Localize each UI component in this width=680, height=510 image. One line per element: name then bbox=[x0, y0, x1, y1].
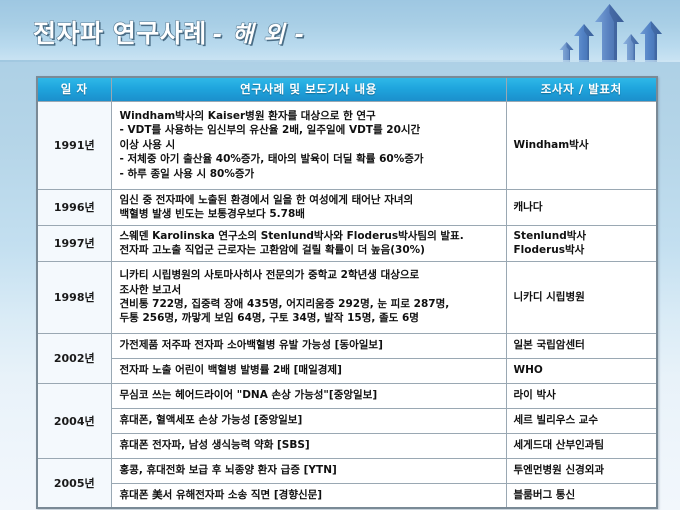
cell-source: 캐나다 bbox=[506, 189, 657, 225]
cell-date: 1991년 bbox=[37, 101, 111, 189]
table-row: 1996년 임신 중 전자파에 노출된 환경에서 일을 한 여성에게 태어난 자… bbox=[37, 189, 657, 225]
cell-date: 2005년 bbox=[37, 458, 111, 508]
cell-content: 니카티 시립병원의 사토마사히사 전문의가 중학교 2학년생 대상으로 조사한 … bbox=[111, 261, 506, 333]
cell-source: WHO bbox=[506, 358, 657, 383]
page-title-main: 전자파 연구사례 bbox=[33, 19, 207, 48]
table-header-row: 일 자 연구사례 및 보도기사 내용 조사자 / 발표처 bbox=[37, 77, 657, 101]
table-row: 1998년 니카티 시립병원의 사토마사히사 전문의가 중학교 2학년생 대상으… bbox=[37, 261, 657, 333]
cell-content: 스웨덴 Karolinska 연구소의 Stenlund박사와 Floderus… bbox=[111, 225, 506, 261]
table-row: 2002년 가전제품 저주파 전자파 소아백혈병 유발 가능성 [동아일보] 일… bbox=[37, 333, 657, 358]
table-row: 2005년 홍콩, 휴대전화 보급 후 뇌종양 환자 급증 [YTN] 투엔먼병… bbox=[37, 458, 657, 483]
cell-content: Windham박사의 Kaiser병원 환자를 대상으로 한 연구 - VDT를… bbox=[111, 101, 506, 189]
cell-source: 니카디 시립병원 bbox=[506, 261, 657, 333]
table-row: 휴대폰 전자파, 남성 생식능력 약화 [SBS] 세게드대 산부인과팀 bbox=[37, 433, 657, 458]
cell-date: 1997년 bbox=[37, 225, 111, 261]
cell-content: 무심코 쓰는 헤어드라이어 "DNA 손상 가능성"[중앙일보] bbox=[111, 383, 506, 408]
slide-header-band: 전자파 연구사례- 해 외 - bbox=[0, 0, 680, 62]
cell-source: Stenlund박사 Floderus박사 bbox=[506, 225, 657, 261]
cell-date: 1996년 bbox=[37, 189, 111, 225]
cell-source: 라이 박사 bbox=[506, 383, 657, 408]
cell-date: 1998년 bbox=[37, 261, 111, 333]
cell-source: Windham박사 bbox=[506, 101, 657, 189]
table-row: 휴대폰, 혈액세포 손상 가능성 [중앙일보] 세르 빌리우스 교수 bbox=[37, 408, 657, 433]
table-row: 휴대폰 美서 유해전자파 소송 직면 [경향신문] 블룸버그 통신 bbox=[37, 483, 657, 508]
upward-arrows-icon bbox=[557, 0, 672, 62]
cell-source: 투엔먼병원 신경외과 bbox=[506, 458, 657, 483]
cell-source: 세르 빌리우스 교수 bbox=[506, 408, 657, 433]
arrow-medium-1 bbox=[574, 24, 594, 62]
cell-date: 2002년 bbox=[37, 333, 111, 383]
arrow-small-2 bbox=[623, 34, 639, 62]
column-header-content: 연구사례 및 보도기사 내용 bbox=[111, 77, 506, 101]
page-title: 전자파 연구사례- 해 외 - bbox=[33, 14, 305, 50]
table-row: 1991년 Windham박사의 Kaiser병원 환자를 대상으로 한 연구 … bbox=[37, 101, 657, 189]
cell-content: 가전제품 저주파 전자파 소아백혈병 유발 가능성 [동아일보] bbox=[111, 333, 506, 358]
cell-date: 2004년 bbox=[37, 383, 111, 458]
table-row: 2004년 무심코 쓰는 헤어드라이어 "DNA 손상 가능성"[중앙일보] 라… bbox=[37, 383, 657, 408]
cell-content: 휴대폰 美서 유해전자파 소송 직면 [경향신문] bbox=[111, 483, 506, 508]
table-row: 1997년 스웨덴 Karolinska 연구소의 Stenlund박사와 Fl… bbox=[37, 225, 657, 261]
cell-content: 휴대폰, 혈액세포 손상 가능성 [중앙일보] bbox=[111, 408, 506, 433]
cell-content: 전자파 노출 어린이 백혈병 발병률 2배 [매일경제] bbox=[111, 358, 506, 383]
cell-source: 블룸버그 통신 bbox=[506, 483, 657, 508]
column-header-source: 조사자 / 발표처 bbox=[506, 77, 657, 101]
arrow-small-1 bbox=[560, 42, 574, 62]
research-cases-table: 일 자 연구사례 및 보도기사 내용 조사자 / 발표처 1991년 Windh… bbox=[36, 76, 658, 509]
cell-content: 임신 중 전자파에 노출된 환경에서 일을 한 여성에게 태어난 자녀의 백혈병… bbox=[111, 189, 506, 225]
cell-source: 세게드대 산부인과팀 bbox=[506, 433, 657, 458]
arrow-tall-center bbox=[595, 4, 624, 62]
cell-content: 홍콩, 휴대전화 보급 후 뇌종양 환자 급증 [YTN] bbox=[111, 458, 506, 483]
cell-content: 휴대폰 전자파, 남성 생식능력 약화 [SBS] bbox=[111, 433, 506, 458]
cell-source: 일본 국립암센터 bbox=[506, 333, 657, 358]
arrow-medium-2 bbox=[640, 21, 662, 62]
table-row: 전자파 노출 어린이 백혈병 발병률 2배 [매일경제] WHO bbox=[37, 358, 657, 383]
page-subtitle: - 해 외 - bbox=[213, 22, 305, 48]
column-header-date: 일 자 bbox=[37, 77, 111, 101]
